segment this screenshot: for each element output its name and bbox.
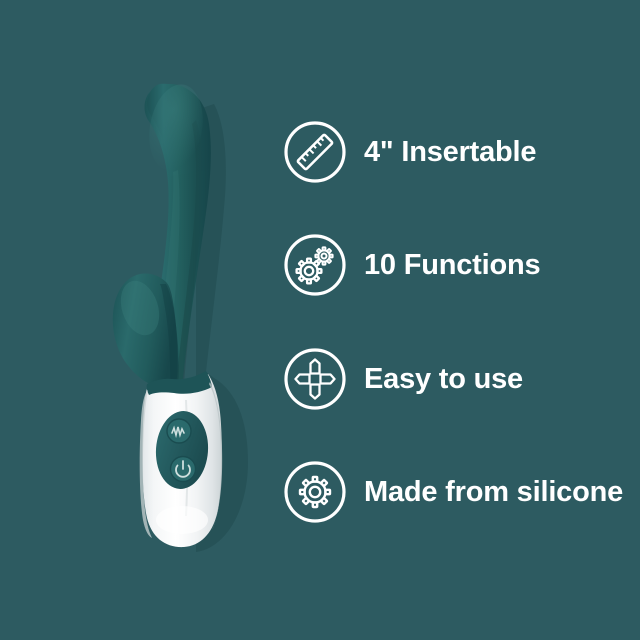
ruler-icon [282,119,348,185]
gears-icon [282,232,348,298]
dpad-icon [282,346,348,412]
feature-item-functions: 10 Functions [282,229,540,301]
handle-bottom-highlight [156,506,208,534]
power-button[interactable] [171,457,196,482]
feature-label-functions: 10 Functions [364,251,540,280]
feature-label-easy-to-use: Easy to use [364,365,523,394]
product-image [0,0,270,640]
feature-item-insertable: 4" Insertable [282,116,536,188]
feature-label-silicone: Made from silicone [364,478,623,507]
product-illustration [0,0,270,640]
feature-item-silicone: Made from silicone [282,456,623,528]
feature-item-easy-to-use: Easy to use [282,343,523,415]
mode-button[interactable] [167,419,191,443]
feature-label-insertable: 4" Insertable [364,138,536,167]
gear-icon [282,459,348,525]
feature-list: 4" Insertable [282,110,640,540]
product-infographic: 4" Insertable [0,0,640,640]
